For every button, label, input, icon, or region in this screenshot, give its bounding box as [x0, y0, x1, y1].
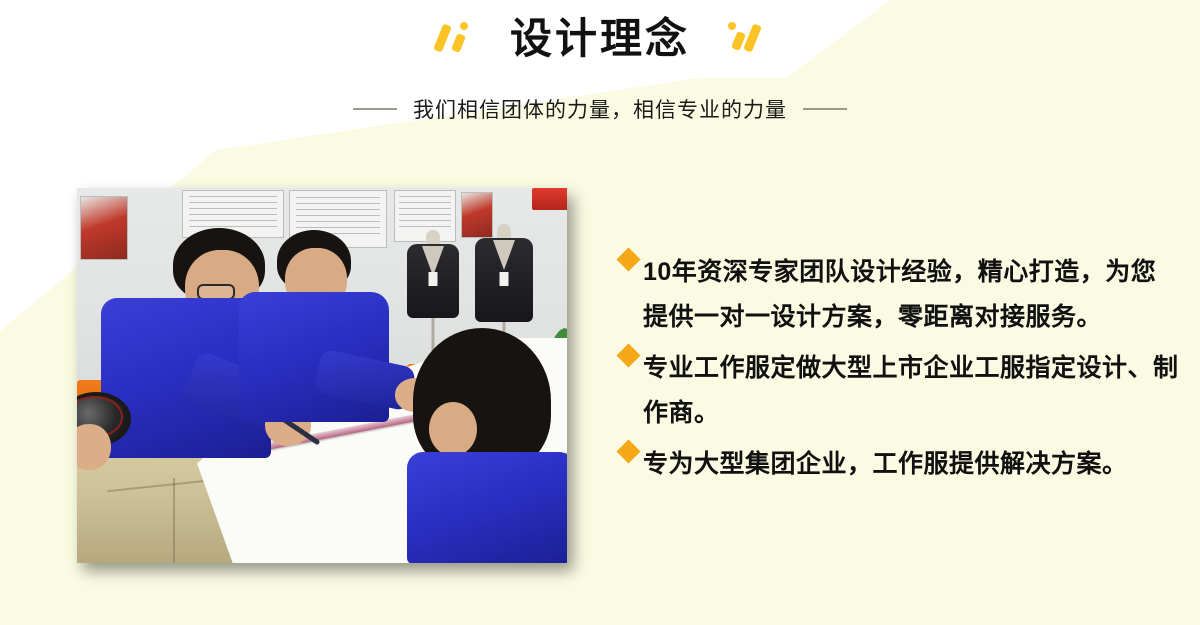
- photo-table-seam-2: [173, 478, 175, 563]
- slash-long-left: [433, 23, 452, 52]
- feature-list: 10年资深专家团队设计经验，精心打造，为您提供一对一设计方案，零距离对接服务。 …: [620, 250, 1180, 493]
- dot-right: [728, 22, 736, 30]
- slash-long-right: [743, 23, 762, 52]
- photo-poster-lines: [399, 196, 452, 231]
- double-slash-dot-icon-right: [720, 19, 766, 59]
- diamond-bullet-icon: [616, 343, 640, 367]
- subtitle-row: 我们相信团体的力量，相信专业的力量: [0, 94, 1200, 124]
- team-photo-scene: [77, 188, 567, 563]
- slash-short-left: [451, 33, 466, 53]
- title-row: 设计理念: [0, 18, 1200, 60]
- team-photo: [77, 188, 567, 563]
- diamond-bullet-icon: [616, 247, 640, 271]
- promo-banner: 设计理念 我们相信团体的力量，相信专业的力量: [0, 0, 1200, 625]
- rule-left: [353, 108, 397, 110]
- feature-line: 专为大型集团企业，工作服提供解决方案。: [620, 442, 1180, 487]
- list-item: 专业工作服定做大型上市企业工服指定设计、制作商。: [620, 346, 1180, 436]
- feature-line: 专业工作服定做大型上市企业工服指定设计、制作商。: [620, 346, 1180, 436]
- list-item: 10年资深专家团队设计经验，精心打造，为您提供一对一设计方案，零距离对接服务。: [620, 250, 1180, 340]
- feature-text: 专为大型集团企业，工作服提供解决方案。: [643, 442, 1180, 487]
- feature-line: 10年资深专家团队设计经验，精心打造，为您提供一对一设计方案，零距离对接服务。: [620, 250, 1180, 340]
- list-item: 专为大型集团企业，工作服提供解决方案。: [620, 442, 1180, 487]
- header: 设计理念 我们相信团体的力量，相信专业的力量: [0, 0, 1200, 150]
- double-slash-dot-icon-left: [434, 19, 480, 59]
- feature-text: 专业工作服定做大型上市企业工服指定设计、制作商。: [643, 346, 1180, 436]
- dot-left: [460, 22, 468, 30]
- photo-head: [429, 402, 477, 456]
- photo-red-banner: [532, 188, 567, 210]
- photo-poster-lines: [189, 196, 277, 228]
- photo-poster-red: [80, 196, 128, 260]
- feature-text: 10年资深专家团队设计经验，精心打造，为您提供一对一设计方案，零距离对接服务。: [643, 250, 1180, 340]
- diamond-bullet-icon: [616, 439, 640, 463]
- photo-suit-tag: [429, 272, 438, 286]
- photo-suit-tag: [500, 272, 509, 286]
- page-title: 设计理念: [510, 18, 690, 60]
- photo-body: [407, 452, 567, 563]
- rule-right: [803, 108, 847, 110]
- page-subtitle: 我们相信团体的力量，相信专业的力量: [413, 94, 787, 124]
